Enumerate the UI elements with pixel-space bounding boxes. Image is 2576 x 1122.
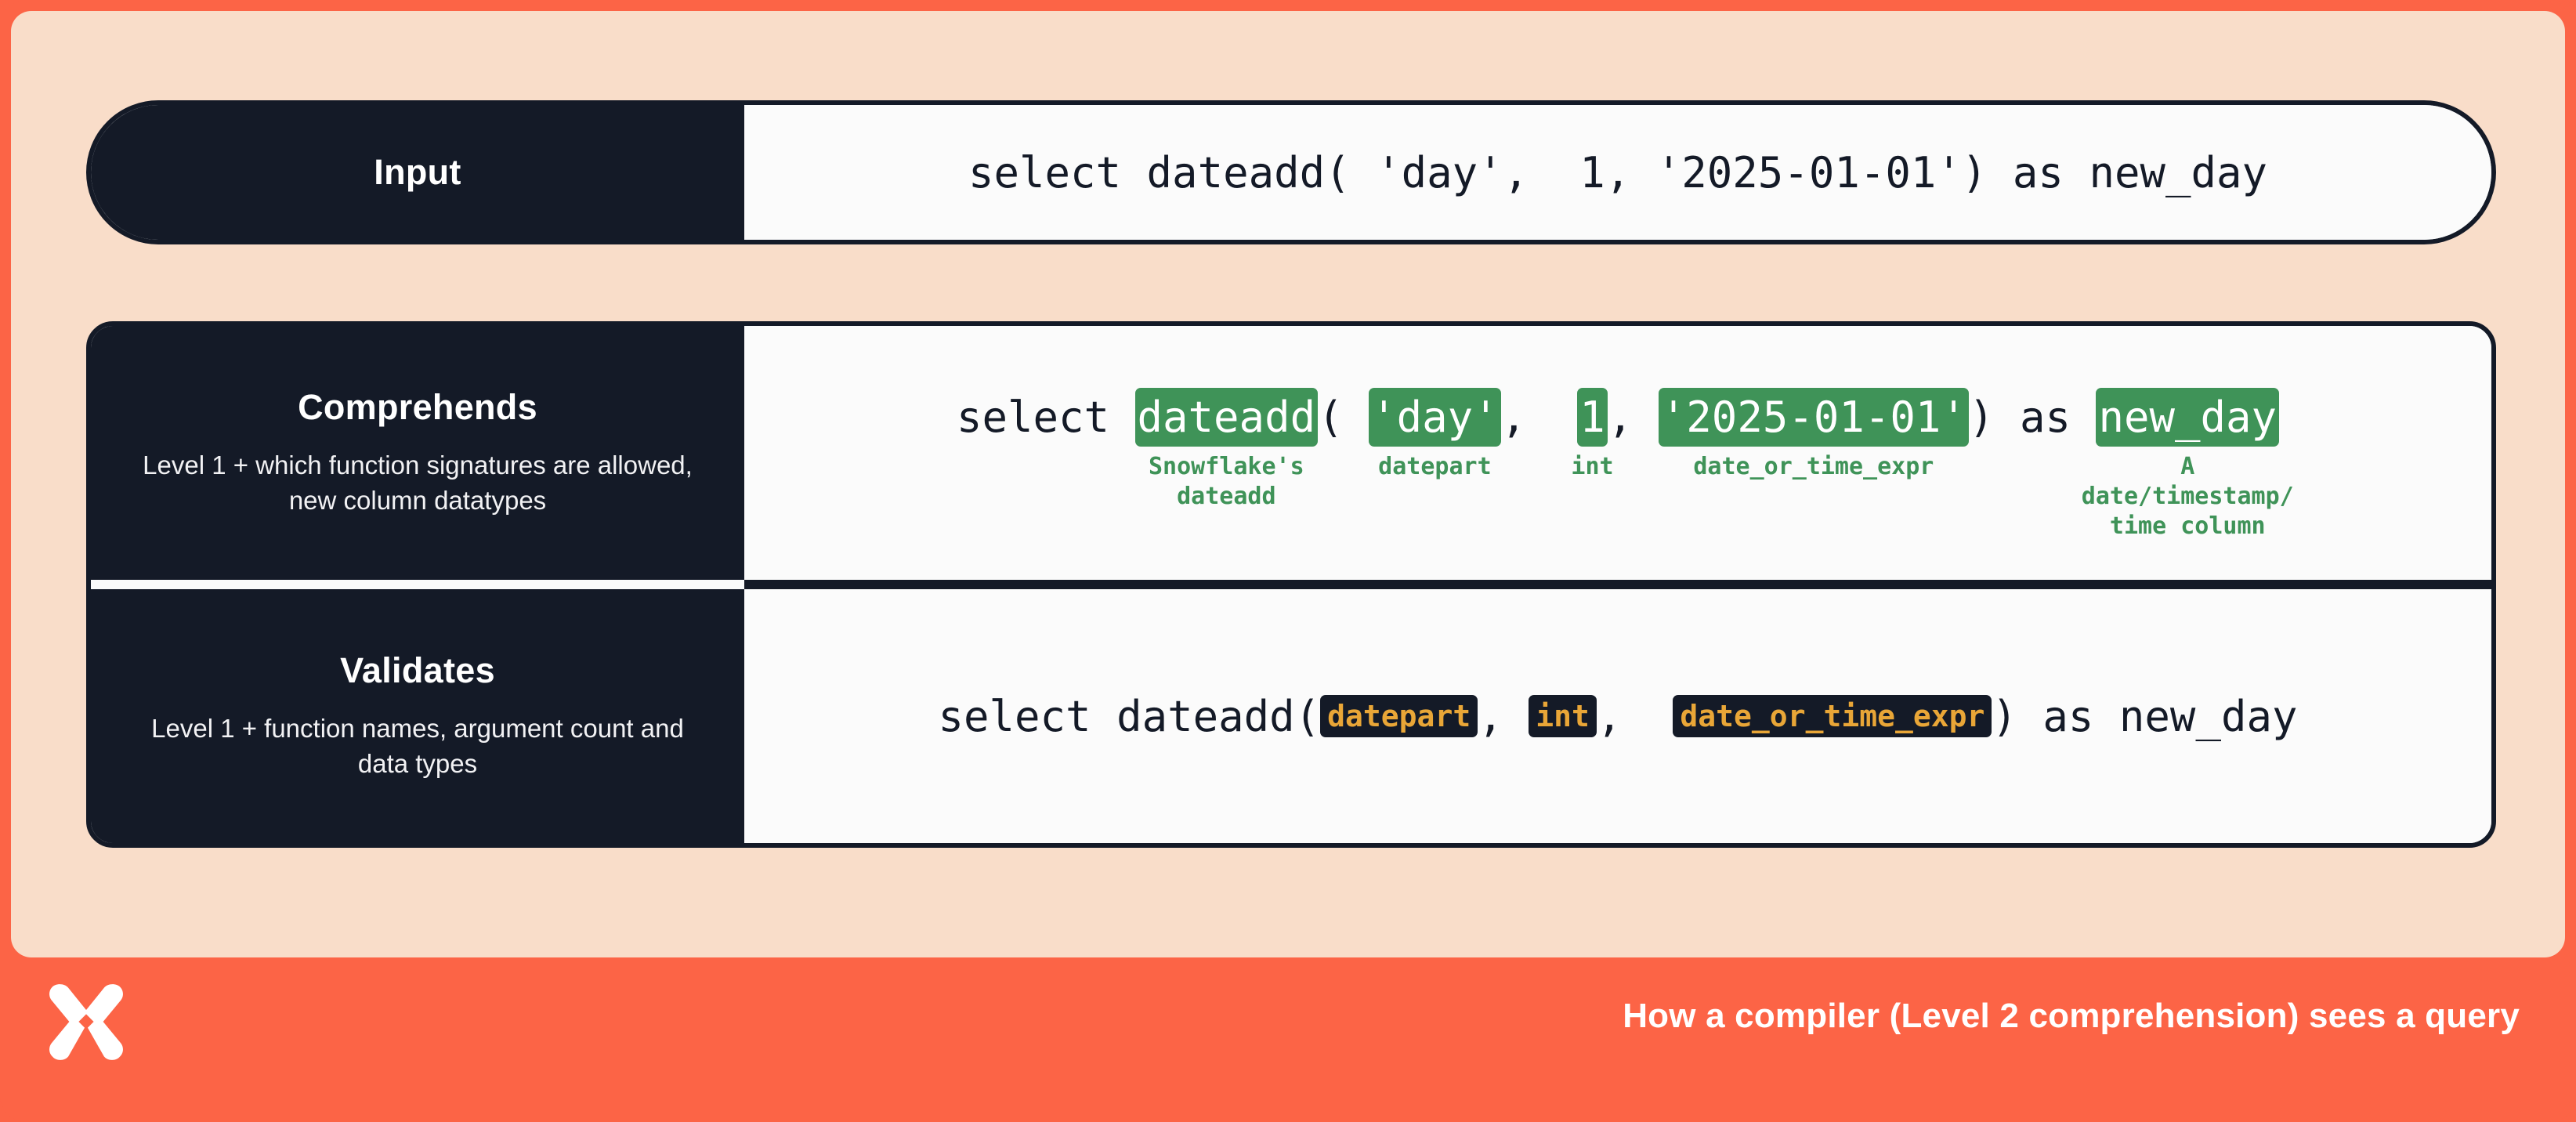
- code-token-2: (: [1318, 393, 1369, 442]
- comprehends-code-line: select dateadd( 'day', 1, '2025-01-01') …: [957, 388, 2279, 447]
- annotation-2: int: [1571, 452, 1613, 482]
- annotation-3: date_or_time_expr: [1693, 452, 1934, 482]
- validates-code-line: select dateadd(datepart, int, date_or_ti…: [939, 692, 2298, 741]
- code-token-6: ) as new_day: [1992, 692, 2297, 741]
- green-token-20250101: '2025-01-01': [1659, 388, 1969, 447]
- placeholder-badge-int: int: [1529, 695, 1597, 737]
- validates-subtitle: Level 1 + function names, argument count…: [124, 711, 711, 781]
- divider-left-gap: [91, 580, 744, 589]
- annotation-0: Snowflake's dateadd: [1149, 452, 1304, 512]
- annotation-4: A date/timestamp/ time column: [2082, 452, 2294, 542]
- comprehends-code-block: select dateadd( 'day', 1, '2025-01-01') …: [957, 388, 2279, 519]
- input-card: Input select dateadd( 'day', 1, '2025-01…: [86, 100, 2496, 244]
- comprehends-title: Comprehends: [298, 387, 537, 428]
- validates-label: Validates Level 1 + function names, argu…: [91, 589, 744, 843]
- divider-bar: [744, 580, 2491, 589]
- comprehends-code-area: select dateadd( 'day', 1, '2025-01-01') …: [744, 326, 2491, 580]
- green-token-new_day: new_day: [2096, 388, 2279, 447]
- code-token-0: select dateadd(: [939, 692, 1321, 741]
- footer-bar: How a compiler (Level 2 comprehension) s…: [0, 957, 2576, 1122]
- green-token-dateadd: dateadd: [1135, 388, 1319, 447]
- x-mark-logo: [39, 975, 133, 1069]
- code-token-4: ,: [1597, 692, 1673, 741]
- input-code-area: select dateadd( 'day', 1, '2025-01-01') …: [744, 105, 2491, 240]
- code-token-0: select: [957, 393, 1135, 442]
- comprehends-row: Comprehends Level 1 + which function sig…: [91, 326, 2491, 580]
- comprehends-label: Comprehends Level 1 + which function sig…: [91, 326, 744, 580]
- validates-title: Validates: [340, 650, 495, 691]
- code-token-2: ,: [1478, 692, 1529, 741]
- validates-row: Validates Level 1 + function names, argu…: [91, 589, 2491, 843]
- levels-card: Comprehends Level 1 + which function sig…: [86, 321, 2496, 848]
- green-token-1: 1: [1577, 388, 1608, 447]
- validates-code-area: select dateadd(datepart, int, date_or_ti…: [744, 589, 2491, 843]
- placeholder-badge-date_or_time_expr: date_or_time_expr: [1673, 695, 1992, 737]
- code-token-8: ) as: [1969, 393, 2097, 442]
- placeholder-badge-datepart: datepart: [1320, 695, 1478, 737]
- input-label: Input: [91, 105, 744, 240]
- comprehends-subtitle: Level 1 + which function signatures are …: [124, 448, 711, 518]
- green-token-day: 'day': [1369, 388, 1501, 447]
- annotation-1: datepart: [1378, 452, 1492, 482]
- row-divider: [91, 580, 2491, 589]
- input-code-text: select dateadd( 'day', 1, '2025-01-01') …: [968, 148, 2267, 197]
- code-token-6: ,: [1608, 393, 1659, 442]
- footer-caption: How a compiler (Level 2 comprehension) s…: [1623, 997, 2520, 1036]
- content-stage: Input select dateadd( 'day', 1, '2025-01…: [11, 11, 2565, 957]
- infographic-frame: Input select dateadd( 'day', 1, '2025-01…: [0, 0, 2576, 1122]
- code-token-4: ,: [1501, 393, 1578, 442]
